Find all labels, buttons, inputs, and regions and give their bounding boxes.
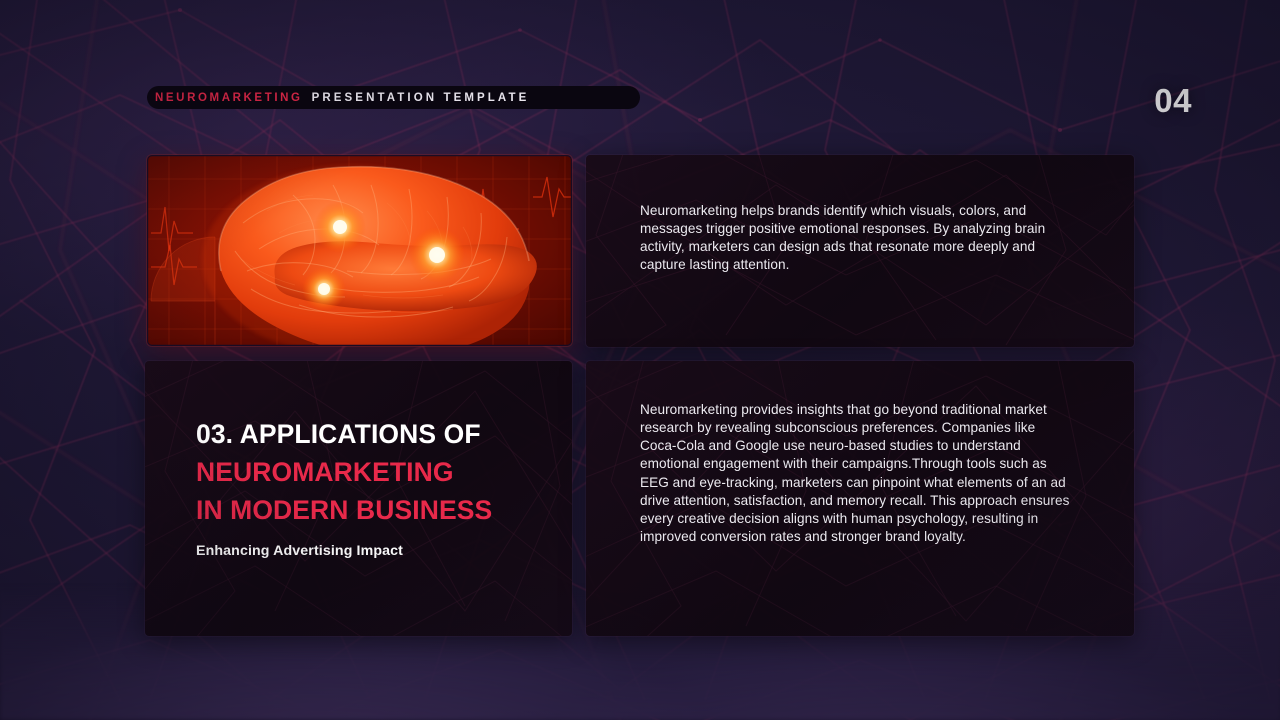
header-subtitle-label: PRESENTATION TEMPLATE — [312, 92, 530, 104]
header-title-bar: NEUROMARKETING PRESENTATION TEMPLATE — [147, 86, 640, 109]
detail-paragraph: Neuromarketing provides insights that go… — [640, 401, 1072, 546]
brain-image-card — [147, 155, 572, 346]
presentation-slide: NEUROMARKETING PRESENTATION TEMPLATE 04 — [0, 0, 1280, 720]
heading-line-3: IN MODERN BUSINESS — [196, 492, 546, 530]
heading-line-2: NEUROMARKETING — [196, 454, 546, 492]
heading-block: 03. APPLICATIONS OF NEUROMARKETING IN MO… — [196, 416, 546, 559]
header-brand-label: NEUROMARKETING — [155, 92, 303, 104]
page-number: 04 — [1154, 82, 1192, 120]
brain-neural-activity-image — [147, 155, 572, 346]
heading-line-1: 03. APPLICATIONS OF — [196, 416, 546, 454]
intro-paragraph: Neuromarketing helps brands identify whi… — [640, 202, 1060, 275]
heading-subtitle: Enhancing Advertising Impact — [196, 543, 546, 559]
